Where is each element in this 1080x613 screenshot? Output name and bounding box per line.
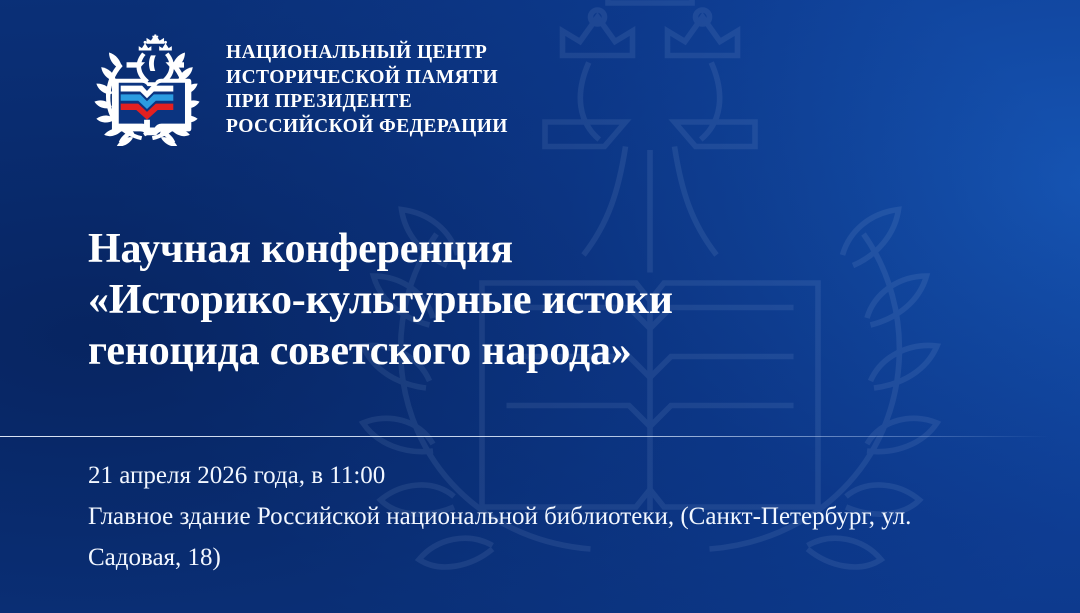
event-venue: Главное здание Российской национальной б… — [88, 496, 978, 578]
national-center-emblem-icon — [88, 34, 206, 146]
event-details: 21 апреля 2026 года, в 11:00 Главное зда… — [88, 455, 978, 578]
conference-announcement-banner: НАЦИОНАЛЬНЫЙ ЦЕНТР ИСТОРИЧЕСКОЙ ПАМЯТИ П… — [0, 0, 1080, 613]
conference-title: Научная конференция «Историко-культурные… — [88, 224, 808, 377]
org-name-line-2: ИСТОРИЧЕСКОЙ ПАМЯТИ — [226, 66, 508, 91]
organization-name: НАЦИОНАЛЬНЫЙ ЦЕНТР ИСТОРИЧЕСКОЙ ПАМЯТИ П… — [226, 41, 508, 139]
org-name-line-1: НАЦИОНАЛЬНЫЙ ЦЕНТР — [226, 41, 508, 66]
org-name-line-3: ПРИ ПРЕЗИДЕНТЕ — [226, 90, 508, 115]
title-line-2: «Историко-культурные истоки — [88, 275, 808, 326]
event-datetime: 21 апреля 2026 года, в 11:00 — [88, 455, 978, 496]
title-line-1: Научная конференция — [88, 224, 808, 275]
title-line-3: геноцида советского народа» — [88, 326, 808, 377]
org-name-line-4: РОССИЙСКОЙ ФЕДЕРАЦИИ — [226, 115, 508, 140]
logo-header: НАЦИОНАЛЬНЫЙ ЦЕНТР ИСТОРИЧЕСКОЙ ПАМЯТИ П… — [88, 34, 508, 146]
horizontal-divider — [0, 436, 1050, 437]
